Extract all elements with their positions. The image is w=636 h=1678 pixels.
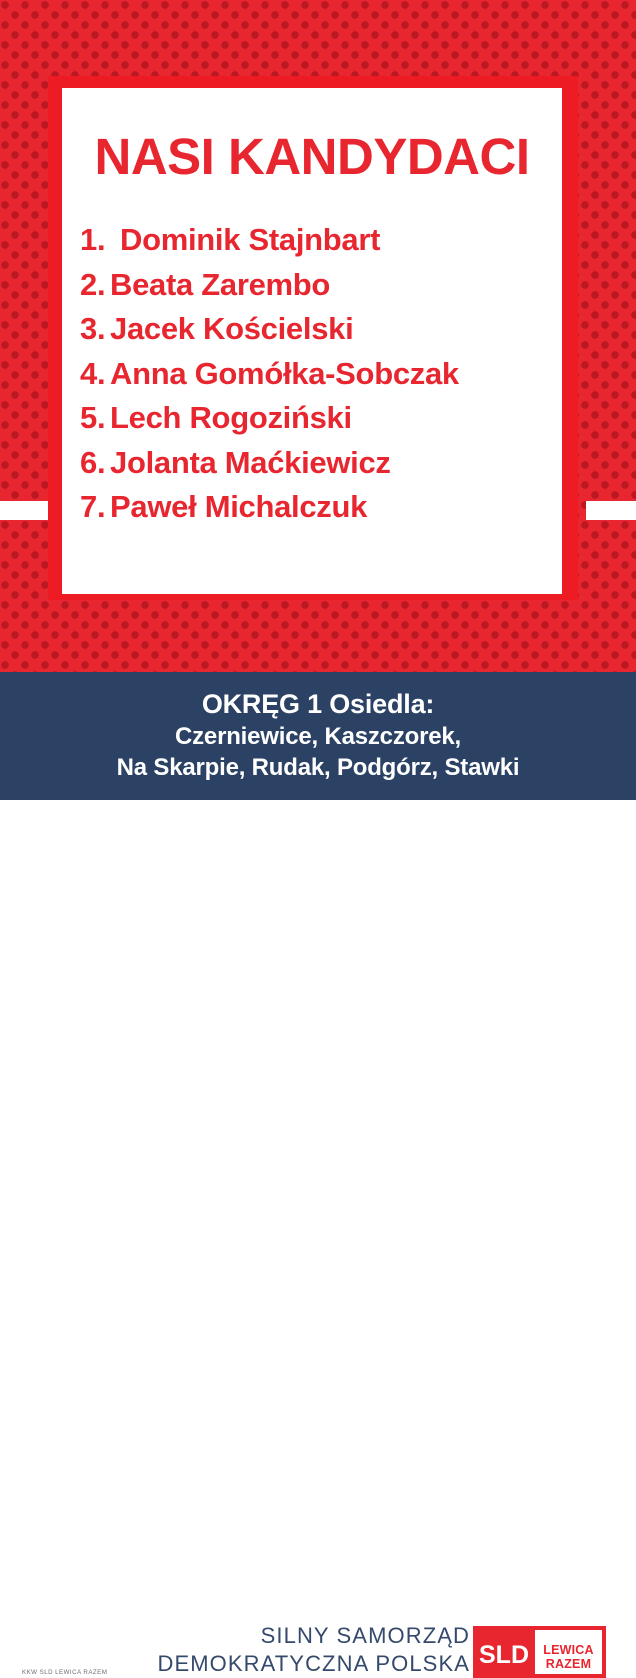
sld-logo-subbox: LEWICA RAZEM	[535, 1630, 602, 1674]
list-item: 4. Anna Gomółka-Sobczak	[62, 352, 572, 397]
sld-logo-sub-line-2: RAZEM	[546, 1658, 591, 1672]
list-item-number: 2.	[80, 263, 110, 308]
list-item-name: Beata Zarembo	[110, 263, 330, 308]
list-item-name: Anna Gomółka-Sobczak	[110, 352, 459, 397]
district-heading: OKRĘG 1 Osiedla:	[202, 688, 434, 721]
list-item: 3. Jacek Kościelski	[62, 307, 572, 352]
sld-logo-sub-line-1: LEWICA	[543, 1644, 594, 1658]
list-item-number: 1.	[80, 218, 120, 263]
list-item-number: 7.	[80, 485, 110, 530]
list-item: 5. Lech Rogoziński	[62, 396, 572, 441]
list-item: 1. Dominik Stajnbart	[62, 218, 572, 263]
district-band: OKRĘG 1 Osiedla: Czerniewice, Kaszczorek…	[0, 672, 636, 800]
list-item-name: Lech Rogoziński	[110, 396, 352, 441]
district-neighborhoods-line-2: Na Skarpie, Rudak, Podgórz, Stawki	[117, 752, 520, 783]
right-white-notch-bar	[586, 501, 636, 520]
campaign-poster: NASI KANDYDACI 1. Dominik Stajnbart 2. B…	[0, 0, 636, 900]
list-item: 7. Paweł Michalczuk	[62, 485, 572, 530]
sld-logo: SLD LEWICA RAZEM	[473, 1626, 606, 1678]
list-item-name: Paweł Michalczuk	[110, 485, 367, 530]
page-title: NASI KANDYDACI	[62, 131, 562, 182]
list-item-number: 4.	[80, 352, 110, 397]
list-item-number: 3.	[80, 307, 110, 352]
committee-fineprint: KKW SLD LEWICA RAZEM	[22, 1669, 107, 1676]
slogan-line-2: DEMOKRATYCZNA POLSKA	[157, 1650, 470, 1678]
list-item-number: 6.	[80, 441, 110, 486]
slogan-line-1: SILNY SAMORZĄD	[157, 1622, 470, 1650]
left-white-notch-bar	[0, 501, 50, 520]
list-item-name: Jacek Kościelski	[110, 307, 353, 352]
slogan: SILNY SAMORZĄD DEMOKRATYCZNA POLSKA	[157, 1622, 470, 1678]
list-item: 2. Beata Zarembo	[62, 263, 572, 308]
list-item-name: Jolanta Maćkiewicz	[110, 441, 391, 486]
list-item: 6. Jolanta Maćkiewicz	[62, 441, 572, 486]
list-item-number: 5.	[80, 396, 110, 441]
district-neighborhoods-line-1: Czerniewice, Kaszczorek,	[175, 721, 461, 752]
sld-logo-wordmark: SLD	[473, 1626, 535, 1678]
list-item-name: Dominik Stajnbart	[120, 218, 380, 263]
candidate-list: 1. Dominik Stajnbart 2. Beata Zarembo 3.…	[62, 218, 572, 530]
footer: SILNY SAMORZĄD DEMOKRATYCZNA POLSKA SLD …	[0, 800, 636, 900]
